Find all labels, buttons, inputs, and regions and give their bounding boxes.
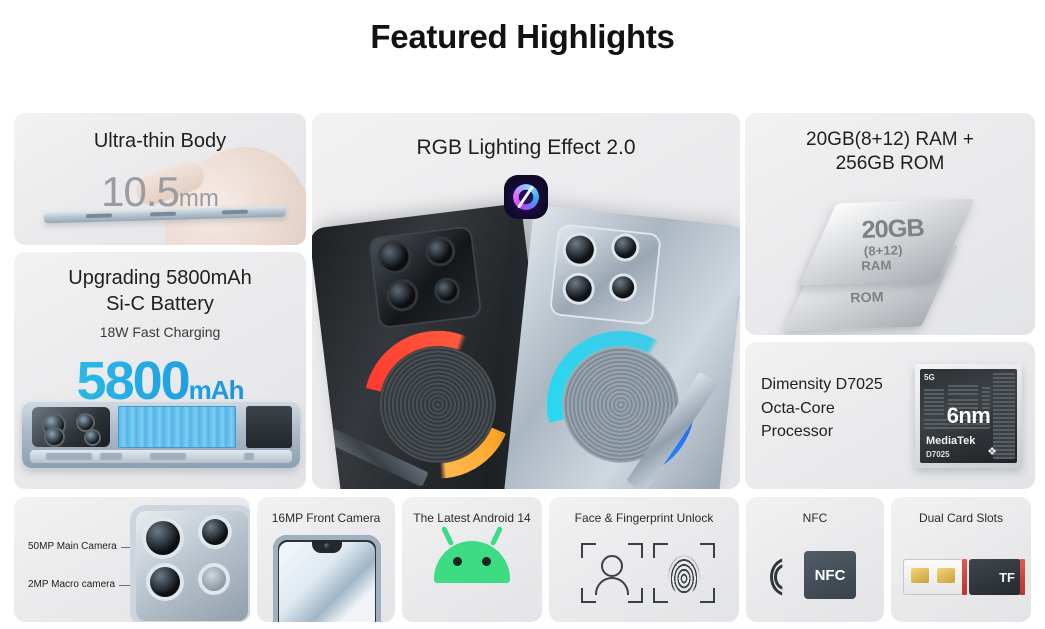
card-dual-card-slots[interactable]: Dual Card Slots TF: [891, 497, 1031, 622]
battery-capacity-value: 5800: [77, 351, 189, 411]
rear-camera-macro-note: 2MP Macro camera: [28, 579, 115, 590]
face-scan-icon: [581, 543, 643, 603]
card-battery[interactable]: Upgrading 5800mAh Si-C Battery 18W Fast …: [14, 252, 306, 489]
rear-camera-main-note: 50MP Main Camera: [28, 541, 117, 552]
nfc-tag: NFC: [804, 551, 856, 599]
rgb-lighting-app-icon[interactable]: [504, 175, 548, 219]
battery-phone-frame: [30, 450, 292, 463]
phone-back-silver: [503, 205, 740, 489]
thin-measure-unit: mm: [179, 185, 219, 212]
battery-title-line2: Si-C Battery: [106, 293, 214, 315]
front-camera-title: 16MP Front Camera: [257, 511, 395, 526]
fingerprint-scan-icon: [653, 543, 715, 603]
card-rgb-lighting[interactable]: RGB Lighting Effect 2.0 Doo: [312, 113, 740, 489]
rear-camera-module-image: [130, 505, 250, 622]
battery-title: Upgrading 5800mAh Si-C Battery: [14, 266, 306, 317]
tf-card-label: TF: [999, 570, 1015, 585]
android-title: The Latest Android 14: [402, 511, 542, 526]
processor-die-image: 5G 6nm MediaTek D7025 ❖: [915, 364, 1022, 468]
page-title: Featured Highlights: [0, 18, 1045, 56]
die-5g-label: 5G: [924, 373, 935, 382]
battery-cells: [118, 406, 236, 448]
battery-capacity-unit: mAh: [189, 375, 244, 405]
thin-measure-value: 10.5: [101, 168, 179, 215]
battery-phone-panel: [246, 406, 292, 448]
processor-description: Dimensity D7025 Octa-Core Processor: [761, 373, 883, 444]
mediatek-logo-icon: ❖: [987, 445, 997, 458]
nfc-title: NFC: [746, 511, 884, 526]
dark-phone-camera-module: [368, 225, 482, 329]
card-processor[interactable]: Dimensity D7025 Octa-Core Processor 5G 6…: [745, 342, 1035, 489]
card-nfc[interactable]: NFC NFC: [746, 497, 884, 622]
dual-card-title: Dual Card Slots: [891, 511, 1031, 526]
sim-card-tray: [903, 559, 963, 595]
card-unlock[interactable]: Face & Fingerprint Unlock: [549, 497, 739, 622]
front-camera-notch: [312, 540, 342, 553]
front-phone-image: [273, 535, 381, 622]
card-ultra-thin-body[interactable]: Ultra-thin Body 10.5mm: [14, 113, 306, 245]
processor-line3: Processor: [761, 420, 883, 444]
rgb-title: RGB Lighting Effect 2.0: [312, 135, 740, 162]
thin-measure: 10.5mm: [14, 168, 306, 216]
die-brand-label: MediaTek: [926, 435, 975, 447]
battery-title-line1: Upgrading 5800mAh: [68, 267, 251, 289]
tf-card-tray: TF: [969, 559, 1021, 595]
phone-side-buttons: [728, 296, 740, 390]
processor-line1: Dimensity D7025: [761, 373, 883, 397]
card-android-version[interactable]: The Latest Android 14: [402, 497, 542, 622]
die-model-label: D7025: [926, 450, 950, 459]
memory-title-line1: 20GB(8+12) RAM +: [806, 129, 974, 150]
nfc-wave-icon: [774, 557, 796, 591]
chip-rom-type: ROM: [797, 287, 936, 307]
unlock-title: Face & Fingerprint Unlock: [549, 511, 739, 526]
silver-phone-camera-module: [549, 223, 662, 325]
battery-subtitle: 18W Fast Charging: [14, 324, 306, 340]
processor-line2: Octa-Core: [761, 397, 883, 421]
card-front-camera[interactable]: 16MP Front Camera: [257, 497, 395, 622]
chip-ram: 20GB (8+12) RAM: [799, 199, 974, 286]
card-memory[interactable]: 20GB(8+12) RAM + 256GB ROM 256GB ROM 20G…: [745, 113, 1035, 335]
battery-phone-camera-module: [32, 407, 110, 447]
android-robot-icon: [434, 541, 510, 583]
card-rear-camera[interactable]: 50MP Main Camera 2MP Macro camera: [14, 497, 250, 622]
memory-title: 20GB(8+12) RAM + 256GB ROM: [745, 128, 1035, 177]
die-process-label: 6nm: [920, 403, 1017, 429]
battery-capacity: 5800mAh: [14, 350, 306, 412]
memory-title-line2: 256GB ROM: [836, 153, 945, 174]
